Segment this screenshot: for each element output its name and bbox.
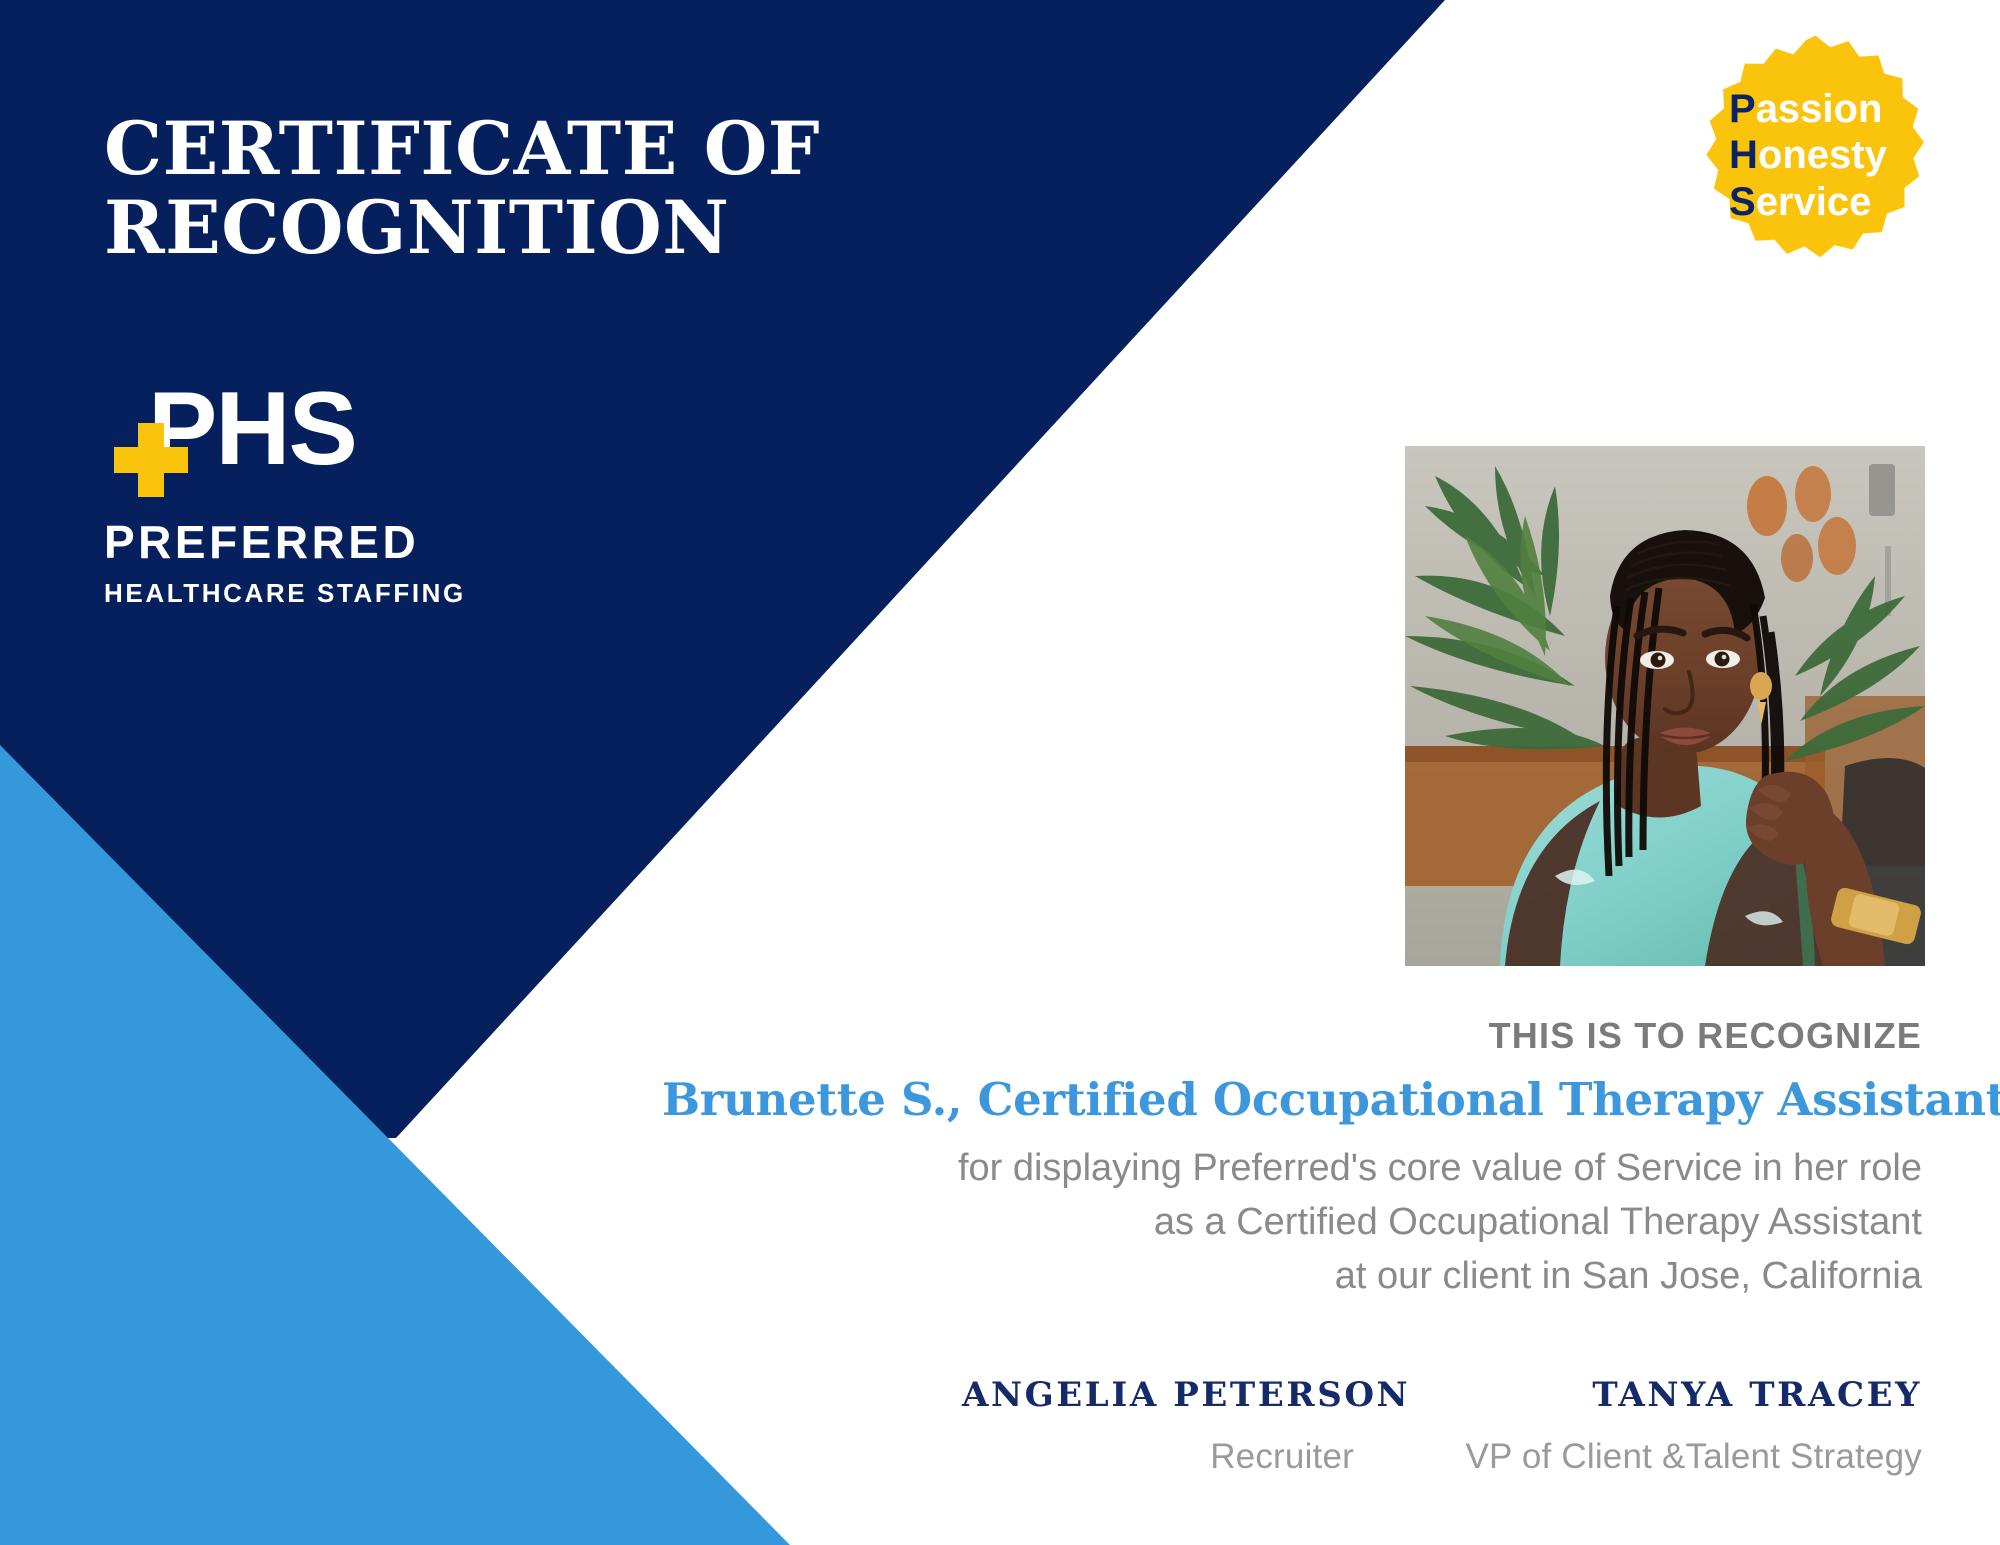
recognition-body-line-3: at our client in San Jose, California <box>662 1250 1922 1304</box>
signature-name-2: TANYA TRACEY <box>1392 1375 1922 1415</box>
signature-name-1: ANGELIA PETERSON <box>962 1375 1354 1415</box>
certificate-title: CERTIFICATE OF RECOGNITION <box>104 110 1004 268</box>
values-word-passion: assion <box>1756 87 1883 131</box>
values-word-honesty: onesty <box>1758 133 1887 177</box>
values-initial-s: S <box>1729 180 1756 224</box>
values-line-passion: Passion <box>1729 86 1882 132</box>
signature-role-1: Recruiter <box>962 1437 1354 1477</box>
title-line-2: RECOGNITION <box>104 189 1004 268</box>
portrait-photo-image <box>1405 446 1925 966</box>
recognition-kicker: THIS IS TO RECOGNIZE <box>662 1015 1922 1057</box>
recognition-body-line-2: as a Certified Occupational Therapy Assi… <box>662 1196 1922 1250</box>
phs-logo-mark: PHS <box>114 385 524 485</box>
signature-vp: TANYA TRACEY VP of Client &Talent Strate… <box>1392 1375 1922 1477</box>
plus-icon <box>114 423 188 497</box>
values-word-service: ervice <box>1756 180 1872 224</box>
signature-block: ANGELIA PETERSON Recruiter TANYA TRACEY … <box>862 1375 1922 1477</box>
recipient-photo <box>1405 446 1925 966</box>
values-badge-text: Passion Honesty Service <box>1693 33 1938 278</box>
phs-logo: PHS PREFERRED HEALTHCARE STAFFING <box>104 385 524 609</box>
values-initial-p: P <box>1729 87 1756 131</box>
recognition-body: for displaying Preferred's core value of… <box>662 1142 1922 1304</box>
values-badge: Passion Honesty Service <box>1693 33 1938 278</box>
signature-role-2: VP of Client &Talent Strategy <box>1392 1437 1922 1477</box>
recognition-body-line-1: for displaying Preferred's core value of… <box>662 1142 1922 1196</box>
signature-recruiter: ANGELIA PETERSON Recruiter <box>962 1375 1392 1477</box>
recognition-text-block: THIS IS TO RECOGNIZE Brunette S., Certif… <box>662 1015 1922 1304</box>
certificate-canvas: CERTIFICATE OF RECOGNITION PHS PREFERRED… <box>0 0 2000 1545</box>
recipient-name: Brunette S., Certified Occupational Ther… <box>662 1073 1922 1126</box>
logo-tagline: HEALTHCARE STAFFING <box>104 578 524 609</box>
values-initial-h: H <box>1729 133 1758 177</box>
values-line-honesty: Honesty <box>1729 132 1887 178</box>
logo-company-name: PREFERRED <box>104 515 524 569</box>
values-line-service: Service <box>1729 179 1871 225</box>
title-line-1: CERTIFICATE OF <box>104 110 1004 189</box>
